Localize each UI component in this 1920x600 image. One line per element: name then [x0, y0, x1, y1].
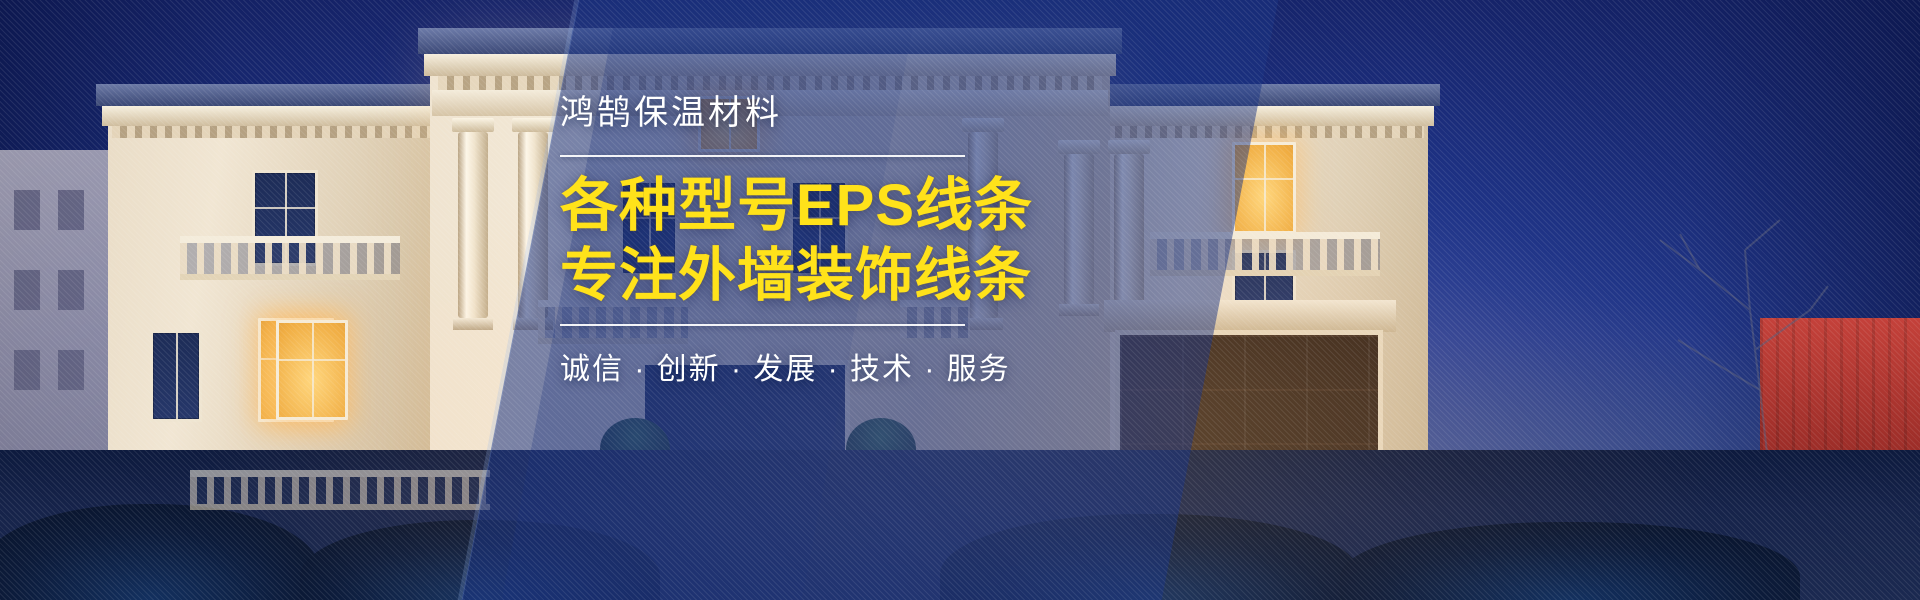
banner-text-block: 鸿鹄保温材料 各种型号EPS线条 专注外墙装饰线条 诚信 · 创新 · 发展 ·… — [560, 92, 1320, 388]
divider-bottom — [560, 324, 965, 326]
headline-line-2: 专注外墙装饰线条 — [560, 245, 1320, 308]
tagline: 诚信 · 创新 · 发展 · 技术 · 服务 — [560, 344, 1320, 388]
hero-banner: 鸿鹄保温材料 各种型号EPS线条 专注外墙装饰线条 诚信 · 创新 · 发展 ·… — [0, 0, 1920, 600]
brand-name: 鸿鹄保温材料 — [560, 92, 1320, 135]
headline-line-1: 各种型号EPS线条 — [560, 175, 1320, 238]
divider-top — [560, 155, 965, 157]
